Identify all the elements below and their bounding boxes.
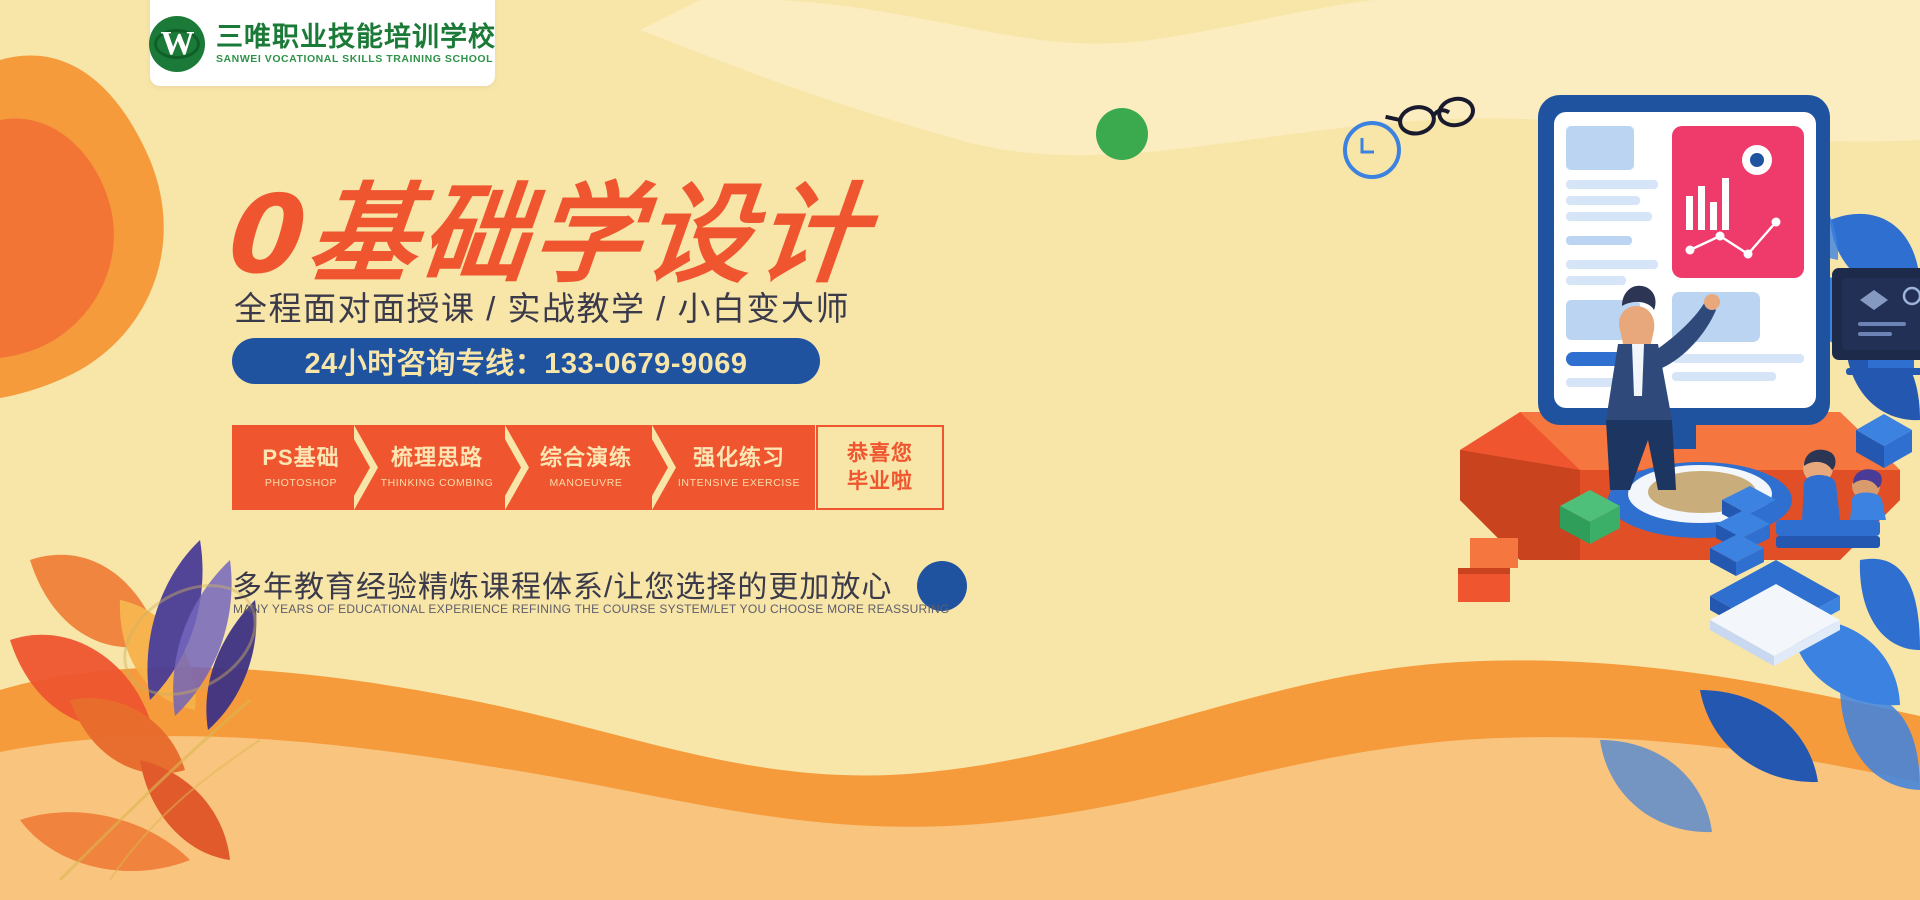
step-label-cn: PS基础 <box>262 446 339 470</box>
monitor-group <box>1538 95 1830 449</box>
green-dot <box>1096 108 1148 160</box>
logo-letter: W <box>161 27 194 61</box>
orange-steps <box>1458 538 1518 602</box>
graduation-line-1: 恭喜您 <box>847 440 913 468</box>
step-item-4[interactable]: 强化练习 INTENSIVE EXERCISE <box>655 425 815 510</box>
logo-mark-icon: W <box>149 16 205 72</box>
logo: W 三唯职业技能培训学校 SANWEI VOCATIONAL SKILLS TR… <box>149 16 496 72</box>
step-label-cn: 综合演练 <box>540 446 632 470</box>
logo-name-cn: 三唯职业技能培训学校 <box>216 23 496 52</box>
logo-name-en: SANWEI VOCATIONAL SKILLS TRAINING SCHOOL <box>216 53 496 65</box>
phone-banner[interactable]: 24小时咨询专线：133-0679-9069 <box>232 338 820 384</box>
hero-subhead: 全程面对面授课 / 实战教学 / 小白变大师 <box>234 282 850 330</box>
chevron-right-icon <box>652 425 676 510</box>
step-label-en: PHOTOSHOP <box>265 477 337 489</box>
step-item-1[interactable]: PS基础 PHOTOSHOP <box>232 425 358 510</box>
graduation-badge[interactable]: 恭喜您 毕业啦 <box>816 425 944 510</box>
logo-card[interactable]: W 三唯职业技能培训学校 SANWEI VOCATIONAL SKILLS TR… <box>150 0 495 86</box>
page-title: 0基础学设计 <box>224 182 875 290</box>
graduation-line-2: 毕业啦 <box>847 468 913 496</box>
chevron-right-icon <box>505 425 529 510</box>
tagline-cn: 多年教育经验精炼课程体系/让您选择的更加放心 <box>232 562 892 606</box>
chevron-right-icon <box>354 425 378 510</box>
step-label-en: MANOEUVRE <box>549 477 622 489</box>
step-label-en: INTENSIVE EXERCISE <box>678 477 800 489</box>
steps-flow: PS基础 PHOTOSHOP 梳理思路 THINKING COMBING 综合演… <box>232 425 944 510</box>
step-item-3[interactable]: 综合演练 MANOEUVRE <box>508 425 656 510</box>
step-label-en: THINKING COMBING <box>381 477 494 489</box>
small-monitor-group <box>1832 268 1920 375</box>
stacked-cards <box>1710 560 1840 666</box>
phone-banner-text: 24小时咨询专线：133-0679-9069 <box>305 340 748 382</box>
step-item-2[interactable]: 梳理思路 THINKING COMBING <box>357 425 509 510</box>
illustration-svg <box>1220 0 1920 900</box>
step-label-cn: 强化练习 <box>693 446 785 470</box>
hero-illustration <box>1220 0 1920 900</box>
logo-text: 三唯职业技能培训学校 SANWEI VOCATIONAL SKILLS TRAI… <box>216 23 496 65</box>
step-label-cn: 梳理思路 <box>391 446 483 470</box>
tagline-en: MANY YEARS OF EDUCATIONAL EXPERIENCE REF… <box>233 602 950 616</box>
